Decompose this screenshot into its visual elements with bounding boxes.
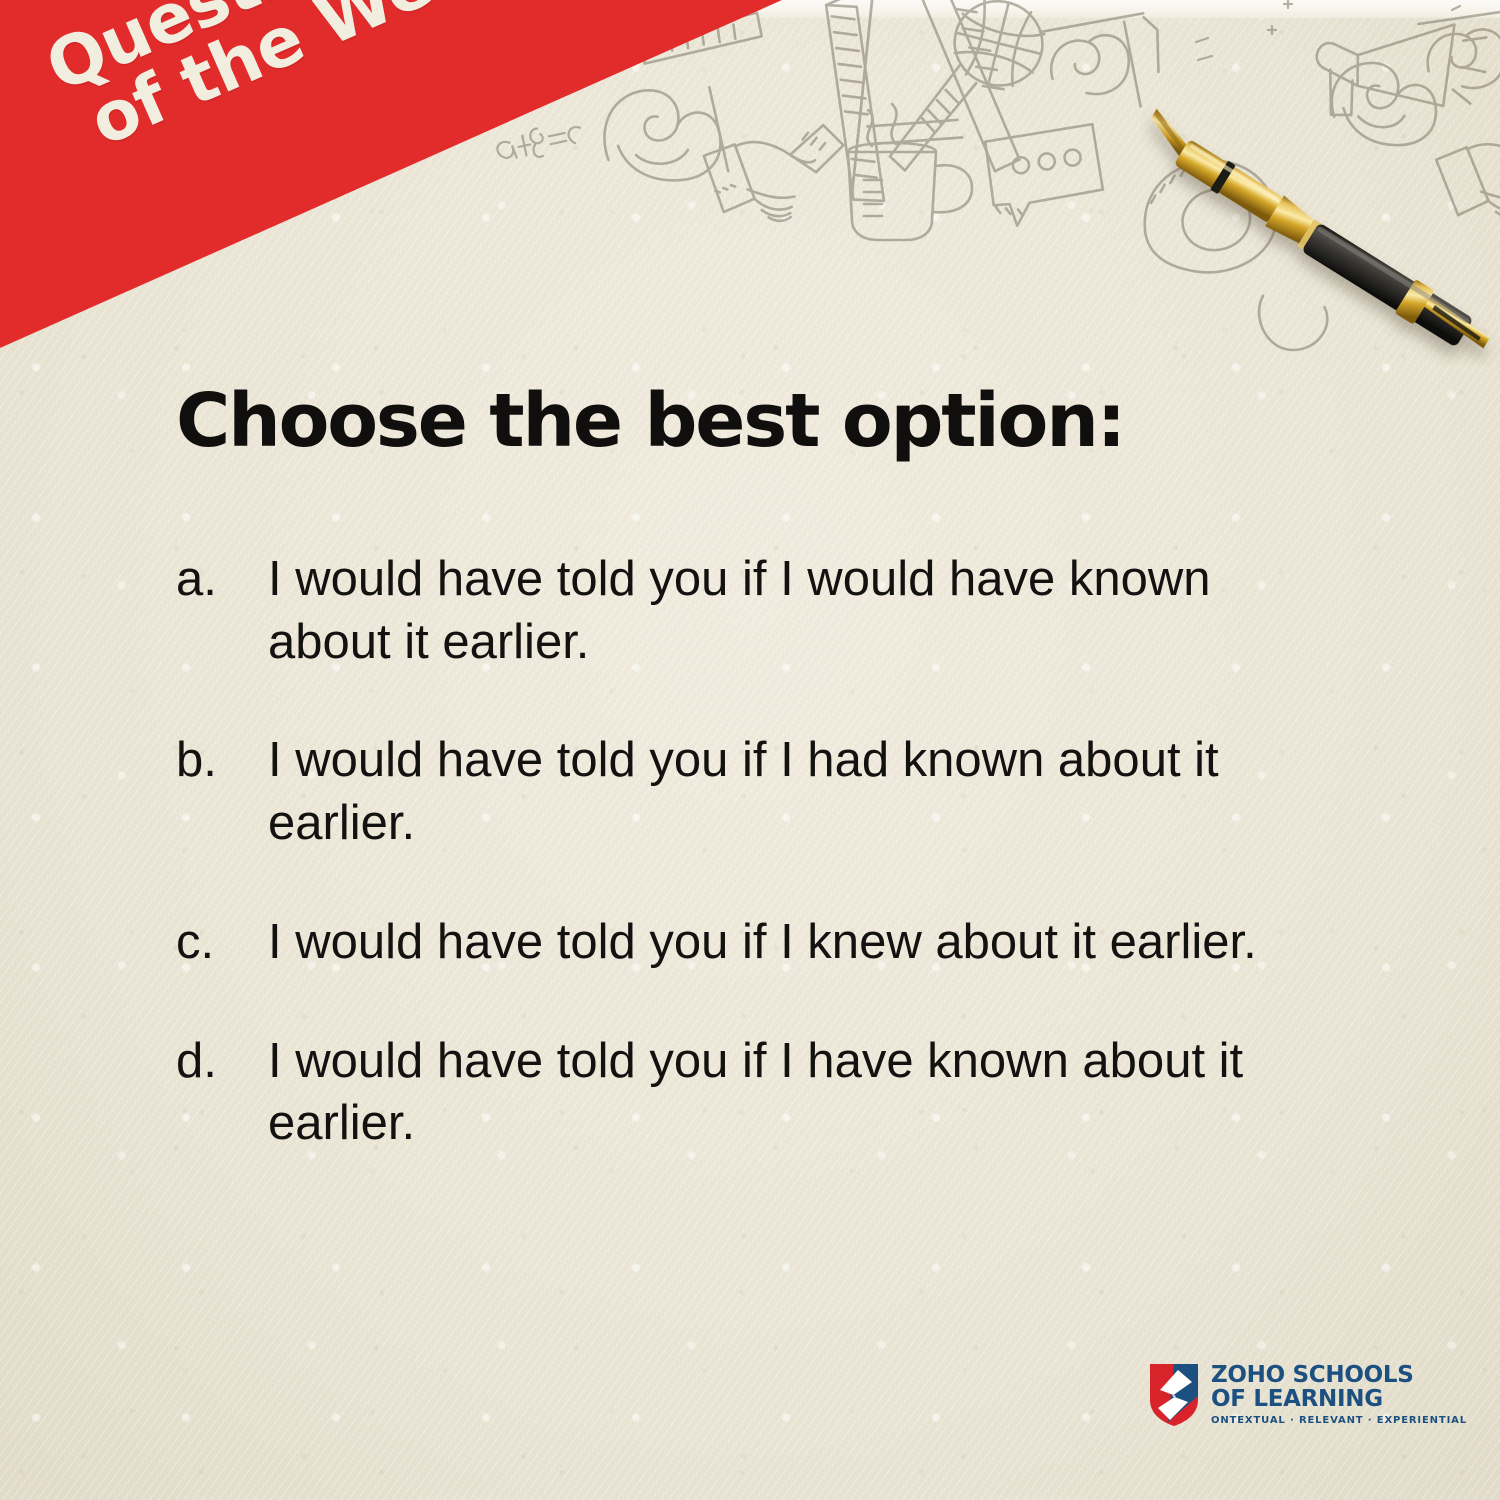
option-marker-d: d. [176,1030,268,1093]
option-marker-a: a. [176,548,268,611]
options-list: a. I would have told you if I would have… [176,548,1296,1211]
option-item-d[interactable]: d. I would have told you if I have known… [176,1030,1296,1155]
option-item-a[interactable]: a. I would have told you if I would have… [176,548,1296,673]
logo-line-2: OF LEARNING [1211,1388,1467,1412]
option-item-c[interactable]: c. I would have told you if I knew about… [176,911,1296,974]
logo-tagline: ONTEXTUAL · RELEVANT · EXPERIENTIAL [1211,1415,1467,1426]
option-text-c: I would have told you if I knew about it… [268,911,1288,974]
poster-canvas: Question of the Week [0,0,1500,1500]
zoho-schools-of-learning-logo: ZOHO SCHOOLS OF LEARNING ONTEXTUAL · REL… [1148,1362,1467,1428]
question-content: Choose the best option: a. I would have … [0,0,1500,1500]
option-text-a: I would have told you if I would have kn… [268,548,1288,673]
option-item-b[interactable]: b. I would have told you if I had known … [176,729,1296,854]
page-title: Choose the best option: [176,378,1124,464]
option-text-b: I would have told you if I had known abo… [268,729,1288,854]
logo-wordmark: ZOHO SCHOOLS OF LEARNING ONTEXTUAL · REL… [1211,1364,1467,1425]
shield-icon [1148,1362,1200,1428]
option-text-d: I would have told you if I have known ab… [268,1030,1288,1155]
option-marker-b: b. [176,729,268,792]
logo-line-1: ZOHO SCHOOLS [1211,1364,1467,1388]
option-marker-c: c. [176,911,268,974]
